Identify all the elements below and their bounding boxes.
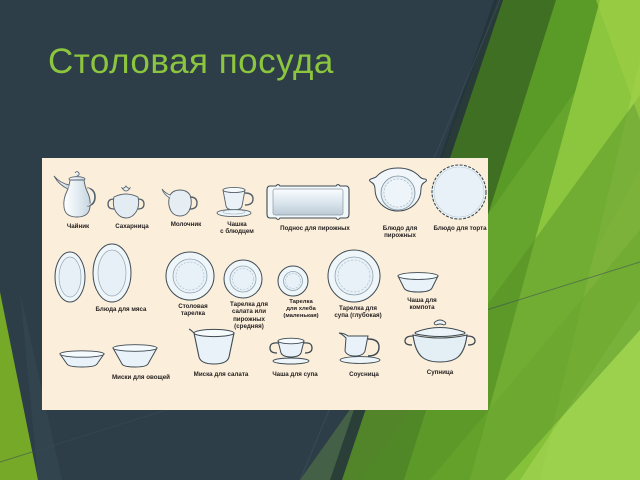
chart-item-compote-bowl: Чаша для компота: [394, 270, 450, 312]
bread-plate-icon: [276, 264, 326, 298]
green-facet-e: [596, 0, 640, 120]
dinner-plate-icon: [164, 250, 222, 302]
chart-item-label: Миски для овощей: [110, 374, 172, 381]
meat-platter-large-icon: [90, 242, 152, 304]
salad-plate-icon: [222, 258, 276, 300]
chart-item-label: Чашка с блюдцем: [212, 221, 262, 236]
soup-plate-icon: [326, 248, 390, 304]
teapot-icon: [50, 168, 106, 222]
vegetable-bowl-flat-icon: [56, 348, 112, 372]
cup-saucer-icon: [212, 182, 262, 220]
gravy-boat-icon: [332, 328, 396, 370]
vegetable-bowl-deep-icon: [110, 342, 172, 372]
chart-item-vegetable-bowl-flat: [56, 348, 112, 373]
chart-item-pastry-platter: Блюдо для пирожных: [368, 166, 432, 240]
chart-item-cup-saucer: Чашка с блюдцем: [212, 182, 262, 236]
chart-item-label: Чаша для компота: [394, 297, 450, 312]
chart-item-label: Чаша для супа: [264, 371, 326, 378]
chart-item-label: Сахарница: [104, 223, 160, 230]
sugar-bowl-icon: [104, 184, 160, 222]
tureen-icon: [404, 316, 476, 368]
chart-item-vegetable-bowl-deep: Миски для овощей: [110, 342, 172, 381]
soup-cup-icon: [264, 334, 326, 370]
green-facet-c: [520, 300, 640, 480]
cake-platter-icon: [430, 160, 488, 224]
left-green-wedge: [0, 292, 38, 480]
chart-item-label: Поднос для пирожных: [264, 225, 366, 232]
chart-item-label: Блюдо для пирожных: [368, 225, 432, 240]
chart-item-label: Супница: [404, 369, 476, 376]
compote-bowl-icon: [394, 270, 450, 296]
chart-item-meat-platter-small: [52, 250, 92, 305]
chart-item-soup-plate: Тарелка для супа (глубокая): [326, 248, 390, 320]
chart-item-label: Тарелка для супа (глубокая): [326, 305, 390, 320]
chart-item-teapot: Чайник: [50, 168, 106, 230]
chart-item-dinner-plate: Столовая тарелка: [164, 250, 222, 318]
meat-platter-small-icon: [52, 250, 92, 304]
chart-item-sugar-bowl: Сахарница: [104, 184, 160, 230]
chart-item-salad-bowl: Миска для салата: [188, 326, 254, 378]
green-band-light: [470, 0, 640, 480]
salad-bowl-icon: [188, 326, 254, 370]
chart-item-pastry-tray: Поднос для пирожных: [264, 180, 366, 232]
chart-item-label: Чайник: [50, 223, 106, 230]
chart-item-label: Тарелка для хлеба (маленькая): [276, 299, 326, 320]
page-title: Столовая посуда: [48, 40, 334, 84]
chart-item-bread-plate: Тарелка для хлеба (маленькая): [276, 264, 326, 320]
chart-item-label: Столовая тарелка: [164, 303, 222, 318]
slide: Столовая посуда: [0, 0, 640, 480]
pastry-platter-icon: [368, 166, 432, 224]
chart-item-label: Миска для салата: [188, 371, 254, 378]
chart-item-cake-platter: Блюдо для торта: [430, 160, 488, 232]
chart-item-salad-plate: Тарелка для салата или пирожных (средняя…: [222, 258, 276, 331]
chart-item-gravy-boat: Соусница: [332, 328, 396, 378]
dishware-chart-image: Чайник Сахарница: [42, 158, 488, 410]
creamer-icon: [159, 186, 213, 220]
chart-item-label: Молочник: [159, 221, 213, 228]
green-band-lighter: [540, 60, 640, 480]
chart-item-label: Блюдо для торта: [430, 225, 488, 232]
chart-item-soup-cup: Чаша для супа: [264, 334, 326, 378]
chart-item-label: Соусница: [332, 371, 396, 378]
chart-item-tureen: Супница: [404, 316, 476, 376]
chart-item-label: Блюда для мяса: [90, 306, 152, 313]
pastry-tray-icon: [264, 180, 366, 224]
chart-item-creamer: Молочник: [159, 186, 213, 228]
chart-item-meat-platter-large: Блюда для мяса: [90, 242, 152, 313]
